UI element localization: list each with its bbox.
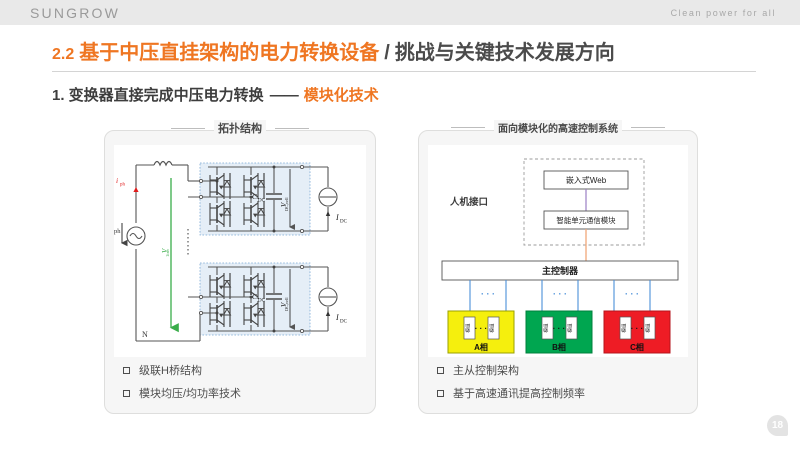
title-rule-right: [631, 127, 665, 128]
subtitle-right: 模块化技术: [304, 84, 379, 105]
control-diagram-area: 人机接口 嵌入式Web 智能单元通信模块 主控制器: [428, 145, 688, 357]
panel-topology-title: 拓扑结构: [105, 120, 375, 136]
title-divider: [52, 71, 756, 72]
cascaded-h-bridge-circuit: ph i ph N V 1inv: [114, 145, 368, 357]
svg-text:DC: DC: [258, 199, 266, 204]
brand-tagline: Clean power for all: [671, 8, 776, 18]
svg-text:I: I: [335, 313, 339, 322]
subtitle-dash: ——: [270, 87, 298, 104]
bullet-square-icon: [123, 390, 130, 397]
slide-title: 2.2 基于中压直挂架构的电力转换设备 / 挑战与关键技术发展方向: [0, 36, 800, 65]
svg-text:· · ·: · · ·: [475, 324, 487, 333]
slide-title-sub: 挑战与关键技术发展方向: [395, 36, 615, 65]
svg-text:· · ·: · · ·: [631, 324, 643, 333]
svg-text:主控制器: 主控制器: [542, 265, 579, 276]
svg-text:i: i: [116, 176, 118, 185]
slide-title-main: 基于中压直挂架构的电力转换设备: [79, 36, 379, 65]
panel-topology: 拓扑结构: [104, 130, 376, 414]
svg-text:模组: 模组: [489, 323, 496, 333]
slide-title-number: 2.2: [52, 46, 74, 64]
control-architecture-diagram: 人机接口 嵌入式Web 智能单元通信模块 主控制器: [428, 145, 690, 357]
svg-text:· · ·: · · ·: [625, 289, 639, 299]
page-number-badge: 18: [767, 415, 788, 436]
bullet-text: 主从控制架构: [453, 362, 519, 378]
slide-subtitle: 1. 变换器直接完成中压电力转换 —— 模块化技术: [52, 84, 379, 105]
panel-control-system: 面向模块化的高速控制系统 人机接口 嵌入式Web 智能单元通信模块 主控制器: [418, 130, 698, 414]
svg-text:· · ·: · · ·: [553, 324, 565, 333]
svg-text:ph: ph: [120, 183, 126, 188]
brand-bar: SUNGROW Clean power for all: [0, 0, 800, 25]
phase-label-a: A相: [474, 342, 488, 352]
bullet-item: 模块均压/均功率技术: [123, 385, 241, 401]
svg-text:模组: 模组: [567, 323, 574, 333]
title-rule-left: [451, 127, 485, 128]
phase-label-c: C相: [630, 342, 644, 352]
bullet-square-icon: [437, 390, 444, 397]
title-rule-left: [171, 128, 205, 129]
bullet-text: 基于高速通讯提高控制频率: [453, 385, 585, 401]
svg-text:模组: 模组: [645, 323, 652, 333]
bullet-text: 模块均压/均功率技术: [139, 385, 241, 401]
svg-text:模组: 模组: [543, 323, 550, 333]
title-rule-right: [275, 128, 309, 129]
svg-text:DC: DC: [258, 299, 266, 304]
panel-control-title: 面向模块化的高速控制系统: [419, 120, 697, 135]
svg-text:模组: 模组: [621, 323, 628, 333]
svg-text:· · ·: · · ·: [553, 289, 567, 299]
bullet-square-icon: [437, 367, 444, 374]
svg-text:模组: 模组: [465, 323, 472, 333]
svg-text:嵌入式Web: 嵌入式Web: [566, 175, 607, 185]
panel-topology-title-text: 拓扑结构: [214, 120, 266, 136]
panel-control-title-text: 面向模块化的高速控制系统: [494, 120, 622, 135]
topology-bullets: 级联H桥结构 模块均压/均功率技术: [123, 362, 241, 401]
bus-ellipsis: · · · · · · · · ·: [481, 289, 639, 299]
phase-label-b: B相: [552, 342, 566, 352]
svg-text:1inv: 1inv: [165, 248, 170, 257]
bullet-item: 主从控制架构: [437, 362, 585, 378]
svg-text:N: N: [142, 330, 148, 339]
bullet-text: 级联H桥结构: [139, 362, 202, 378]
svg-text:· · ·: · · ·: [481, 289, 495, 299]
bullet-square-icon: [123, 367, 130, 374]
svg-text:DC: DC: [340, 220, 348, 225]
slide-title-separator: /: [384, 42, 390, 65]
subtitle-left: 1. 变换器直接完成中压电力转换: [52, 84, 264, 105]
hmi-label: 人机接口: [450, 196, 488, 208]
svg-text:DC: DC: [340, 320, 348, 325]
sungrow-logo: SUNGROW: [30, 5, 120, 21]
bullet-item: 基于高速通讯提高控制频率: [437, 385, 585, 401]
svg-text:智能单元通信模块: 智能单元通信模块: [556, 216, 616, 225]
bullet-item: 级联H桥结构: [123, 362, 241, 378]
svg-text:ph: ph: [114, 228, 121, 235]
svg-text:I: I: [335, 213, 339, 222]
topology-diagram-area: ph i ph N V 1inv: [114, 145, 366, 357]
control-bullets: 主从控制架构 基于高速通讯提高控制频率: [437, 362, 585, 401]
